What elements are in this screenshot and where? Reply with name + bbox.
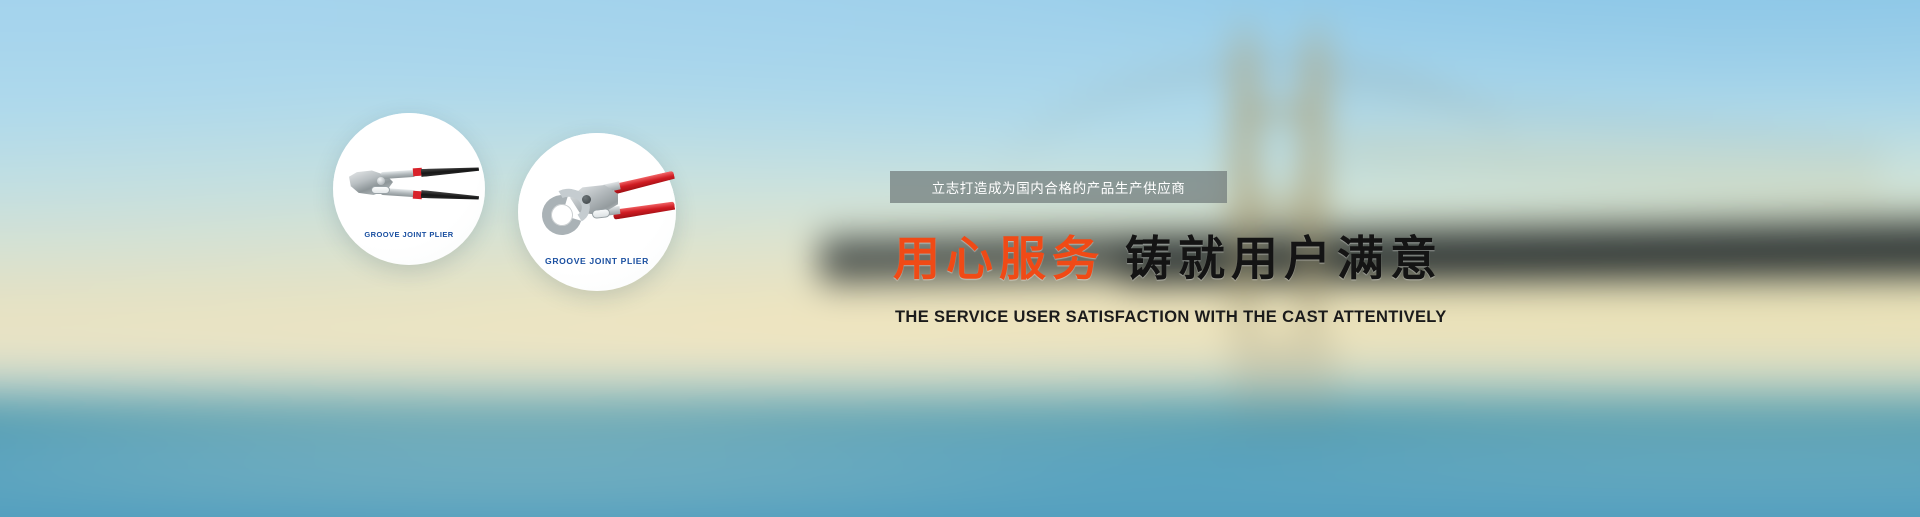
headline-red-text: 用心服务 — [893, 232, 1105, 287]
groove-joint-plier-red-icon — [518, 133, 676, 291]
headline-black-text: 铸就用户满意 — [1125, 232, 1443, 287]
pylon-crossbeam-lower — [1236, 200, 1320, 215]
pylon-crossbeam-upper — [1236, 104, 1320, 119]
tagline-bar: 立志打造成为国内合格的产品生产供应商 — [890, 171, 1227, 203]
headline: 用心服务铸就用户满意 — [893, 236, 1443, 283]
product-caption-1: GROOVE JOINT PLIER — [333, 230, 485, 239]
pylon-water-reflection — [1232, 340, 1336, 457]
tagline-text: 立志打造成为国内合格的产品生产供应商 — [932, 177, 1186, 197]
pylon-leg-left — [1234, 12, 1256, 342]
bridge-pylon-icon — [1230, 12, 1338, 342]
subheadline-text: THE SERVICE USER SATISFACTION WITH THE C… — [895, 308, 1447, 327]
product-medallion-1[interactable]: GROOVE JOINT PLIER — [333, 113, 485, 265]
product-medallion-2[interactable]: GROOVE JOINT PLIER — [518, 133, 676, 291]
groove-joint-plier-black-icon — [333, 113, 485, 265]
pylon-leg-right — [1298, 12, 1328, 342]
promo-banner: GROOVE JOINT PLIER GROOVE JOINT PLIER 立志… — [0, 0, 1920, 517]
product-caption-2: GROOVE JOINT PLIER — [518, 256, 676, 266]
